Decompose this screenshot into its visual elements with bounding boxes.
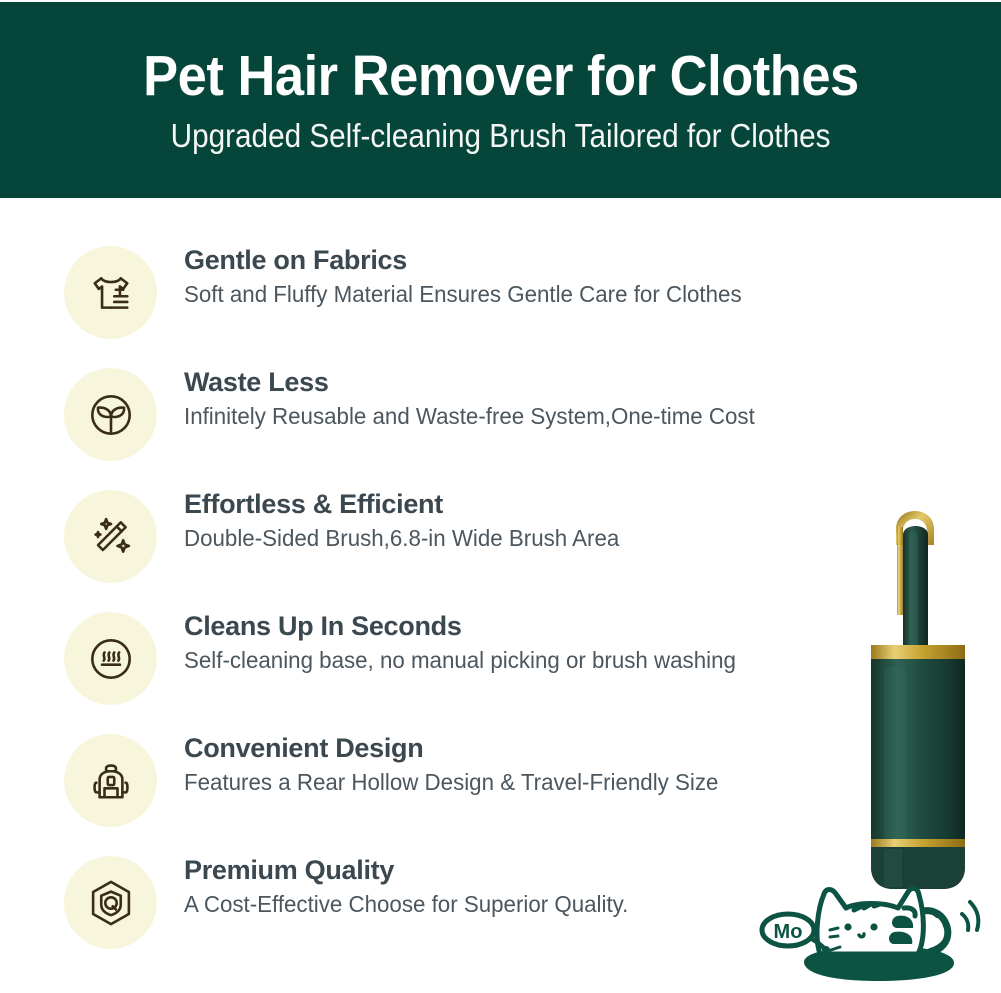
header-banner: Pet Hair Remover for Clothes Upgraded Se… <box>0 2 1001 198</box>
feature-description: Soft and Fluffy Material Ensures Gentle … <box>184 280 863 309</box>
steam-lines-in-circle-icon <box>64 612 157 705</box>
tshirt-icon <box>64 246 157 339</box>
page-title: Pet Hair Remover for Clothes <box>143 48 859 105</box>
magic-wand-sparkles-icon <box>64 490 157 583</box>
backpack-icon <box>64 734 157 827</box>
feature-item-waste-less: Waste Less Infinitely Reusable and Waste… <box>0 360 1001 482</box>
feature-description: Self-cleaning base, no manual picking or… <box>184 646 863 675</box>
cartoon-cat-illustration: Mo <box>758 858 994 988</box>
feature-title: Convenient Design <box>184 732 884 765</box>
page-subtitle: Upgraded Self-cleaning Brush Tailored fo… <box>171 119 831 152</box>
feature-text-block: Gentle on Fabrics Soft and Fluffy Materi… <box>184 244 884 309</box>
feature-description: Infinitely Reusable and Waste-free Syste… <box>184 402 863 431</box>
feature-text-block: Convenient Design Features a Rear Hollow… <box>184 732 884 797</box>
feature-title: Gentle on Fabrics <box>184 244 884 277</box>
product-image <box>848 487 988 907</box>
feature-description: Double-Sided Brush,6.8-in Wide Brush Are… <box>184 524 863 553</box>
sprout-in-circle-icon <box>64 368 157 461</box>
feature-item-gentle-on-fabrics: Gentle on Fabrics Soft and Fluffy Materi… <box>0 238 1001 360</box>
feature-text-block: Cleans Up In Seconds Self-cleaning base,… <box>184 610 884 675</box>
feature-description: Features a Rear Hollow Design & Travel-F… <box>184 768 863 797</box>
feature-text-block: Waste Less Infinitely Reusable and Waste… <box>184 366 884 431</box>
cat-speech-bubble-text: Mo <box>774 921 803 943</box>
feature-title: Waste Less <box>184 366 884 399</box>
feature-text-block: Effortless & Efficient Double-Sided Brus… <box>184 488 884 553</box>
feature-title: Effortless & Efficient <box>184 488 884 521</box>
hexagon-shield-quality-icon <box>64 856 157 949</box>
feature-title: Cleans Up In Seconds <box>184 610 884 643</box>
